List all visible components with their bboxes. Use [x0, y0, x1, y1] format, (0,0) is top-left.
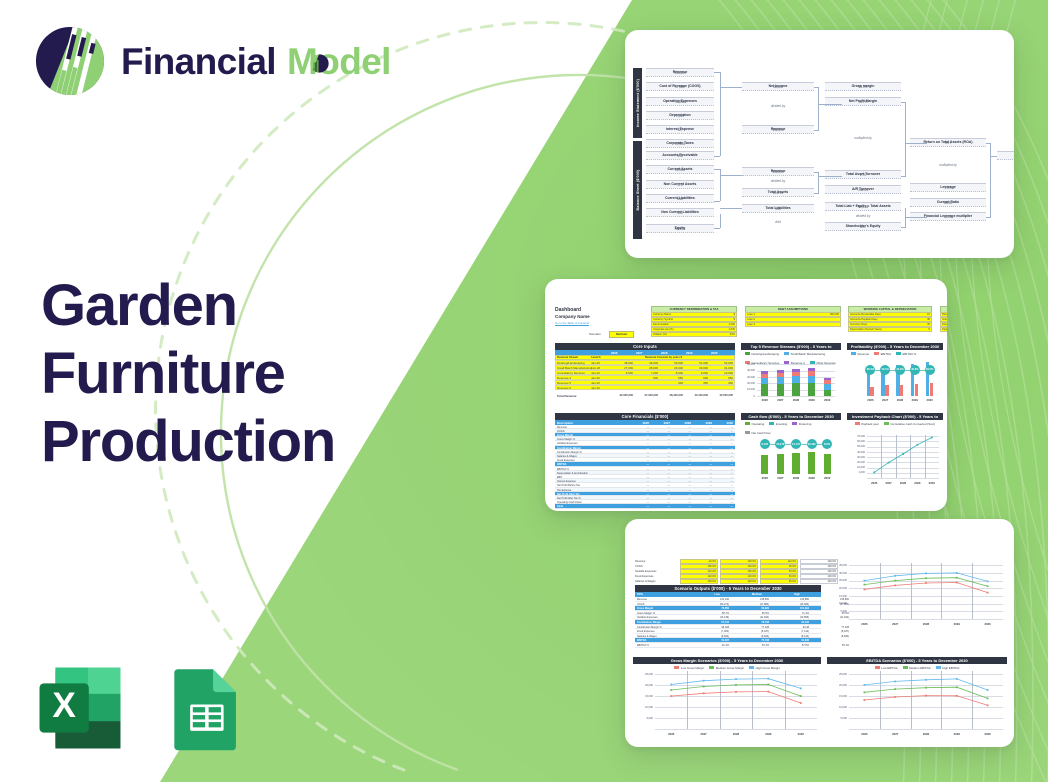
scenario-outputs-cell: 40.1% — [695, 644, 729, 647]
x-axis-tick: 2030 — [922, 398, 937, 402]
bar-segment — [824, 378, 831, 380]
bar-segment — [761, 384, 768, 396]
chart-panel: Investment Payback Chart ($'000) - 5 Yea… — [847, 413, 943, 487]
x-axis-tick: 2029 — [941, 622, 972, 626]
assumption-value: 15 — [916, 313, 930, 316]
legend-entry: EBITDA % — [896, 352, 916, 356]
assumption-label: Return on Equity (ROE) — [942, 313, 947, 316]
series-lines — [867, 435, 939, 478]
dupont-connector — [986, 143, 990, 144]
y-axis-tick: 15,000 — [828, 595, 847, 598]
y-axis-tick: 25,000 — [634, 673, 653, 676]
scenario-outputs-cell: 131,130 — [695, 598, 729, 601]
x-axis-tick: 2028 — [720, 732, 752, 736]
plot-area: 5,00010,00015,00020,00025,00020262027202… — [655, 671, 817, 729]
dupont-connector — [714, 169, 720, 170]
chart-legend: Payback yearCumulative Cash Converted (S… — [851, 422, 939, 426]
dashboard-title: Dashboard — [555, 308, 581, 313]
bar-segment — [777, 373, 784, 377]
legend-swatch — [851, 352, 856, 355]
dupont-connector — [818, 104, 842, 105]
chart-legend: Decking/LandscapingSmall Batch Manufactu… — [745, 352, 837, 365]
core-financials-row-label: Cash — [557, 505, 563, 508]
core-inputs-col-header: Revenue Forecast by years $ — [645, 356, 682, 359]
brand-o-inner-logo-icon — [310, 54, 329, 73]
scenario-outputs-col-header: High — [779, 593, 815, 596]
assumption-label: Loan 3 — [747, 323, 755, 326]
dupont-operator: multiplied by — [910, 163, 986, 167]
legend-label: Medium Gross Margin — [716, 666, 744, 670]
assumption-label: Accounts Payable Days — [850, 318, 877, 321]
assumption-value: 30 — [916, 318, 930, 321]
dupont-node-value: 20,926 — [646, 142, 714, 146]
legend-swatch — [792, 422, 797, 425]
legend-entry: Small Batch Manufacturing — [784, 352, 825, 356]
file-format-icons: X — [36, 664, 250, 752]
scenario-input-label: Fixed Expenses — [635, 575, 653, 578]
dupont-section-label: Balance Sheet ($'000) — [636, 169, 640, 210]
dupont-operator: Add — [742, 220, 814, 224]
bar-segment — [792, 383, 799, 396]
x-axis-tick: 2029 — [752, 732, 784, 736]
dupont-operator-sign: - — [646, 79, 714, 82]
microsoft-excel-icon[interactable]: X — [36, 664, 124, 752]
legend-entry: Low Gross Margin — [674, 666, 704, 670]
dupont-input-node: Operating Expenses17,758 — [646, 97, 714, 106]
scenario-outputs-cell: (8,840) — [815, 635, 849, 638]
bar-segment — [761, 371, 768, 374]
scenario-input-value: -20.0% — [682, 560, 716, 563]
x-axis-tick: 2028 — [893, 398, 908, 402]
legend-label: EBITDA — [881, 352, 891, 356]
title-line-1: Garden — [41, 272, 335, 340]
legend-label: Medium EBITDA — [909, 666, 931, 670]
assumption-label: Depreciation Period (Years) — [850, 328, 882, 331]
dupont-node-value: 648 — [646, 197, 714, 201]
assumption-value: 1,000 — [721, 323, 735, 326]
scenario-outputs-cell: 58.7% — [695, 612, 729, 615]
assumption-row[interactable] — [745, 322, 841, 327]
dupont-connector — [814, 172, 818, 173]
legend-entry: Investing — [769, 422, 787, 426]
y-axis-tick: 20,000 — [828, 587, 847, 590]
y-axis-tick: 30,000 — [828, 572, 847, 575]
legend-label: Small Batch Manufacturing — [791, 352, 826, 356]
legend-swatch — [884, 422, 889, 425]
scenario-input-value: 95.0% — [762, 580, 796, 583]
core-inputs-row[interactable] — [555, 385, 735, 390]
chart-title: Gross Margin Scenarios ($'000) - 5 Years… — [633, 657, 821, 664]
scenario-analysis-screenshot[interactable]: Revenue-20.0%100.0%110.0%100.0%COGS105.0… — [625, 519, 1014, 747]
x-axis-tick: 2026 — [849, 622, 880, 626]
core-financials-title: Core Financials ($'000) — [555, 413, 735, 420]
core-financials-cell: — — [715, 505, 733, 508]
chart-legend: Low EBITDAMedium EBITDAHigh EBITDA — [831, 666, 1003, 670]
y-axis-tick: 10,000 — [828, 706, 847, 709]
dupont-input-node: Depreciation1,265 — [646, 111, 714, 120]
assumption-label: Inflation (%) — [653, 333, 667, 336]
bar-segment — [808, 371, 815, 376]
google-sheets-icon[interactable] — [162, 664, 250, 752]
bar-segment — [808, 376, 815, 383]
dupont-node: Leverage1.0% — [910, 183, 986, 192]
scenario-input-label: COGS — [635, 565, 643, 568]
scenario-outputs-cell: 90,100 — [775, 621, 809, 624]
brand-word-model: Model — [287, 43, 391, 80]
x-axis-tick: 2028 — [911, 622, 942, 626]
legend-swatch — [896, 352, 901, 355]
scenario-outputs-cell: 101,394 — [775, 607, 809, 610]
scenario-input-value: 80.0% — [762, 575, 796, 578]
dupont-node: Total Liab + Equity = Total Assets50,576 — [825, 202, 901, 211]
y-axis-tick: 15,000 — [828, 695, 847, 698]
dupont-connector — [814, 193, 818, 194]
scenario-input-value: 100.0% — [722, 560, 756, 563]
chart-title: Investment Payback Chart ($'000) - 5 Yea… — [847, 413, 943, 420]
dupont-node-value: 949 — [742, 207, 814, 211]
core-inputs-col-header: Revenue Stream — [557, 356, 578, 359]
y-axis-tick: 30,000 — [741, 376, 755, 379]
legend-entry: Medium EBITDA — [903, 666, 931, 670]
y-axis-tick: 5,000 — [828, 610, 847, 613]
dupont-operator-sign: - — [646, 191, 714, 194]
x-axis-tick: 2029 — [907, 398, 922, 402]
y-axis-tick: 15,000 — [634, 695, 653, 698]
legend-entry: Cumulative Cash Converted (Sum) — [884, 422, 935, 426]
chart-legend: Low Gross MarginMedium Gross MarginHigh … — [637, 666, 817, 670]
x-axis-tick: 2028 — [896, 481, 910, 485]
assumption-value: $ — [721, 313, 735, 316]
y-axis-tick: 20,000 — [741, 382, 755, 385]
dupont-input-node: Cost of Revenue (COGS)47,880 — [646, 82, 714, 91]
dupont-operator-sign: - — [646, 93, 714, 96]
scenario-input-value: 100.0% — [722, 580, 756, 583]
dupont-operator: divided by — [825, 214, 901, 218]
scenario-outputs-cell: 146,880 — [775, 598, 809, 601]
assumption-label: Accounts Receivable Days — [850, 313, 881, 316]
y-axis-tick: 35,000 — [828, 564, 847, 567]
legend-swatch — [749, 666, 754, 669]
scenario-input-label: Variable Expenses — [635, 570, 656, 573]
dupont-node: Shareholder's Equity800 — [825, 222, 901, 231]
svg-text:X: X — [52, 686, 76, 725]
legend-label: Low EBITDA — [881, 666, 898, 670]
scenario-outputs-cell: (8,840) — [695, 635, 729, 638]
y-axis-tick: 70,000 — [848, 435, 865, 438]
x-axis-tick: 2030 — [785, 732, 817, 736]
x-axis-tick: 2026 — [863, 398, 878, 402]
dupont-input-node: Corporate Taxes20,926 — [646, 139, 714, 148]
scenario-outputs-title: Scenario Outputs ($'000) - 5 Years to De… — [635, 585, 821, 592]
legend-swatch — [875, 666, 880, 669]
data-bubble: 8,100 — [760, 439, 770, 449]
legend-label: High Gross Margin — [756, 666, 780, 670]
y-axis-tick: 5,000 — [634, 717, 653, 720]
table-of-contents-link[interactable]: Go to the Table of Contents — [555, 322, 589, 325]
data-bubble: 41.2% — [895, 365, 905, 375]
scenario-label: Scenario — [589, 333, 601, 336]
scenario-input-value: 95.0% — [762, 565, 796, 568]
title-line-2: Furniture — [41, 340, 335, 408]
legend-swatch — [769, 422, 774, 425]
scenario-outputs-row-label: Contribution Margin % — [637, 626, 662, 629]
scenario-outputs-cell: 52,097 — [695, 639, 729, 642]
dupont-connector — [818, 176, 842, 177]
bar-segment — [792, 376, 799, 383]
scenario-outputs-cell: 93,38 — [775, 626, 809, 629]
dupont-node-value: 50,906 — [646, 168, 714, 172]
dashboard-screenshot[interactable]: DashboardCompany NameGo to the Table of … — [545, 279, 947, 511]
chart-panel: Profitability ($'000) - 5 Years to Decem… — [847, 343, 943, 407]
dupont-operator-sign: - — [646, 108, 714, 111]
dupont-input-node: Non Current Liabilities100 — [646, 208, 714, 217]
dupont-analysis-screenshot[interactable]: Income Statement ($'000)Balance Sheet ($… — [625, 30, 1014, 258]
scenario-outputs-cell: 53.1% — [815, 644, 849, 647]
y-axis-tick: 10,000 — [634, 706, 653, 709]
plot-area: 010,00020,00030,00040,00050,000202620272… — [757, 364, 835, 396]
scenario-outputs-row-label: Salaries & Wages — [637, 635, 657, 638]
bar-segment — [777, 384, 784, 396]
scenario-input-value: 105.0% — [682, 565, 716, 568]
legend-swatch — [709, 666, 714, 669]
bar-segment — [824, 380, 831, 383]
dupont-connector — [720, 169, 721, 201]
assumption-value: 180,000 — [825, 313, 839, 316]
dupont-node: Total Liabilities949 — [742, 204, 814, 213]
chart-title: Cash flow ($'000) - 5 Years to December … — [741, 413, 841, 420]
data-bubble: 39.5% — [925, 365, 935, 375]
core-inputs-total-value: 37,000,000 — [632, 394, 658, 397]
plot-area: 2026202720282029203038.4%40.1%41.2%42.0%… — [863, 364, 937, 396]
scenario-outputs-cell: (47,880) — [735, 603, 769, 606]
dupont-node-value: 136,800 — [742, 170, 814, 174]
chart-title: Profitability ($'000) - 5 Years to Decem… — [847, 343, 943, 350]
scenario-input-value: 100.0% — [722, 570, 756, 573]
dupont-connector — [714, 201, 720, 202]
scenario-outputs-row-label: Fixed Expenses — [637, 630, 655, 633]
scenario-outputs-cell: (8,840) — [735, 635, 769, 638]
x-axis-tick: 2027 — [880, 732, 911, 736]
legend-entry: Revenue — [851, 352, 869, 356]
dupont-input-node: Non Current Assets170 — [646, 180, 714, 189]
scenario-input-label: Revenue — [635, 560, 645, 563]
legend-swatch — [745, 352, 750, 355]
scenario-outputs-cell: 90,920 — [735, 607, 769, 610]
dupont-node-value: 100 — [646, 211, 714, 215]
legend-label: Operating — [752, 422, 765, 426]
dupont-operator-sign: - — [646, 136, 714, 139]
dupont-connector — [720, 214, 721, 228]
dupont-node-value: 50,576 — [742, 191, 814, 195]
series-lines — [849, 671, 1003, 729]
dupont-connector — [720, 208, 742, 209]
assumption-label: Currency Name — [653, 313, 671, 316]
core-inputs-col-header: Launch — [591, 356, 601, 359]
dupont-node-value: 800 — [825, 225, 901, 229]
dupont-input-node: Equity45,128 — [646, 224, 714, 233]
legend-label: Decking/Landscaping — [752, 352, 780, 356]
dupont-connector — [990, 143, 991, 218]
scenario-outputs-cell: 77,108 — [735, 626, 769, 629]
scenario-input-value: 110.0% — [682, 570, 716, 573]
x-axis-tick: 2027 — [773, 476, 789, 480]
assumption-label: Loan 1 — [747, 313, 755, 316]
legend-entry: EBITDA — [874, 352, 891, 356]
y-axis-tick: 30,000 — [848, 456, 865, 459]
assumption-value: 5 — [916, 328, 930, 331]
dupont-section-sidebar: Income Statement ($'000) — [633, 68, 642, 138]
scenario-outputs-cell: 57.5% — [775, 644, 809, 647]
core-financials-cell: — — [694, 505, 712, 508]
dupont-connector — [901, 102, 905, 103]
chart-panel: EBITDA Scenarios ($'000) - 5 Years to De… — [827, 657, 1007, 739]
series-lines — [849, 563, 1003, 619]
chart-panel: Top 5 Revenue Streams ($'000) - 5 Years … — [741, 343, 841, 407]
scenario-outputs-cell: 91,630 — [775, 639, 809, 642]
dupont-connector — [905, 102, 906, 177]
core-inputs-total-value: 32,000,000 — [607, 394, 633, 397]
scenario-outputs-col-header: KPIs — [637, 593, 659, 596]
dupont-operator: multiplied by — [825, 136, 901, 140]
assumption-label: Internal Rate of Return (IRR), % — [942, 318, 947, 321]
core-inputs-total-label: Total Revenue — [557, 394, 577, 398]
dupont-node-value: 170 — [646, 183, 714, 187]
legend-label: EBITDA % — [903, 352, 917, 356]
chart-title: EBITDA Scenarios ($'000) - 5 Years to De… — [827, 657, 1007, 664]
scenario-outputs-cell: 75,708 — [735, 639, 769, 642]
x-axis-tick: 2027 — [687, 732, 719, 736]
scenario-outputs-col-header: Medium — [739, 593, 775, 596]
plot-area: 5,00010,00015,00020,00025,00030,00035,00… — [849, 563, 1003, 619]
scenario-outputs-cell: (8,140) — [775, 635, 809, 638]
scenario-outputs-cell: 67,710 — [695, 621, 729, 624]
x-axis-tick: 2026 — [867, 481, 881, 485]
dupont-section-sidebar: Balance Sheet ($'000) — [633, 141, 642, 239]
legend-entry: Financing — [792, 422, 811, 426]
scenario-outputs-cell: (7,142) — [775, 630, 809, 633]
bar-segment — [824, 390, 831, 396]
dupont-node-value: 1,265 — [646, 114, 714, 118]
bar-segment — [808, 368, 815, 371]
scenario-outputs-row-label: Gross Margin % — [637, 612, 655, 615]
legend-swatch — [855, 422, 860, 425]
core-financials-cell: — — [631, 505, 649, 508]
dupont-node-value: 17,758 — [646, 100, 714, 104]
x-axis-tick: 2029 — [804, 476, 820, 480]
chart-title: Top 5 Revenue Streams ($'000) - 5 Years … — [741, 343, 841, 350]
title-line-3: Production — [41, 408, 335, 476]
brand-logo: Financial Model — [33, 24, 391, 98]
dupont-node: Return on Equity (ROE)61.03 — [997, 151, 1014, 160]
bar-segment — [792, 372, 799, 376]
scenario-outputs-cell: 65.5% — [735, 612, 769, 615]
bar-segment — [777, 370, 784, 373]
dupont-node-value: 1.0% — [910, 186, 986, 190]
dupont-input-node: Accounts Receivable948 — [646, 151, 714, 160]
brand-word-financial: Financial — [121, 43, 276, 80]
legend-swatch — [903, 666, 908, 669]
brand-wordmark: Financial Model — [121, 43, 391, 80]
dupont-input-node: Current Assets50,906 — [646, 165, 714, 174]
x-axis-tick: 2030 — [925, 481, 939, 485]
scenario-outputs-cell: (10,866) — [775, 616, 809, 619]
core-inputs-launch: Jan-26 — [591, 386, 600, 390]
chart-panel: Gross Margin Scenarios ($'000) - 5 Years… — [633, 657, 821, 739]
chart-legend: OperatingInvestingFinancingNet Cash Flow — [745, 422, 837, 435]
dupont-node-value: 948 — [646, 154, 714, 158]
scenario-outputs-cell: (8,037) — [815, 630, 849, 633]
dupont-node: Current Ratio58.98 — [910, 198, 986, 207]
x-axis-tick: 2026 — [757, 398, 773, 402]
assumption-label: Currency Symbol — [653, 318, 673, 321]
assumption-value: 1,000 — [721, 328, 735, 331]
data-bubble: 22,490 — [807, 439, 817, 449]
legend-label: Financing — [799, 422, 812, 426]
dupont-connector — [714, 156, 720, 157]
legend-entry: High Gross Margin — [749, 666, 780, 670]
scenario-outputs-cell: 53.1% — [735, 644, 769, 647]
dupont-connector — [986, 217, 990, 218]
dupont-section-label: Income Statement ($'000) — [636, 79, 640, 127]
dupont-connector — [714, 228, 720, 229]
scenario-outputs-col-header: Low — [699, 593, 735, 596]
legend-entry: Low EBITDA — [875, 666, 898, 670]
legend-swatch — [745, 431, 750, 434]
dupont-node-value: 136,800 — [742, 128, 814, 132]
x-axis-tick: 2028 — [788, 398, 804, 402]
legend-label: Investing — [776, 422, 788, 426]
dupont-connector — [714, 72, 720, 73]
dupont-connector — [814, 130, 818, 131]
scenario-selector[interactable]: Medium — [609, 331, 634, 338]
dupont-connector — [818, 87, 819, 131]
y-axis-tick: 20,000 — [848, 461, 865, 464]
dupont-connector — [990, 156, 997, 157]
assumption-value: 30% — [721, 333, 735, 336]
legend-swatch — [674, 666, 679, 669]
scenario-input-value: 100.0% — [722, 565, 756, 568]
legend-entry: Net Cash Flow — [745, 431, 770, 435]
dupont-operator: divided by — [742, 179, 814, 183]
legend-label: Net Cash Flow — [752, 431, 771, 435]
dupont-node: Revenue136,800 — [742, 167, 814, 176]
plot-area: 5,00010,00015,00020,00025,00020262027202… — [849, 671, 1003, 729]
y-axis-tick: 40,000 — [848, 451, 865, 454]
bar-segment — [792, 369, 799, 372]
series-lines — [655, 671, 817, 729]
dupont-connector — [901, 176, 905, 177]
dupont-operator: divided by — [742, 104, 814, 108]
y-axis-tick: 50,000 — [848, 445, 865, 448]
legend-swatch — [936, 666, 941, 669]
dupont-node-value: 144.24 — [825, 188, 901, 192]
assumption-value: $ — [721, 318, 735, 321]
bar-segment — [777, 377, 784, 384]
scenario-outputs-row-label: Gross Margin — [637, 607, 653, 610]
chart-panel: Cash flow ($'000) - 5 Years to December … — [741, 413, 841, 487]
legend-entry: Payback year — [855, 422, 879, 426]
bar-segment — [761, 374, 768, 378]
dupont-node: Gross margin65.0% — [825, 82, 901, 91]
y-axis-tick: 25,000 — [828, 673, 847, 676]
y-axis-tick: 10,000 — [848, 466, 865, 469]
dupont-node-value: 61.03 — [997, 154, 1014, 158]
scenario-outputs-cell: (11,942) — [735, 616, 769, 619]
chart-panel: 5,00010,00015,00020,00025,00030,00035,00… — [827, 557, 1007, 629]
dupont-connector — [905, 143, 927, 144]
x-axis-tick: 2027 — [878, 398, 893, 402]
y-axis-tick: 20,000 — [634, 684, 653, 687]
